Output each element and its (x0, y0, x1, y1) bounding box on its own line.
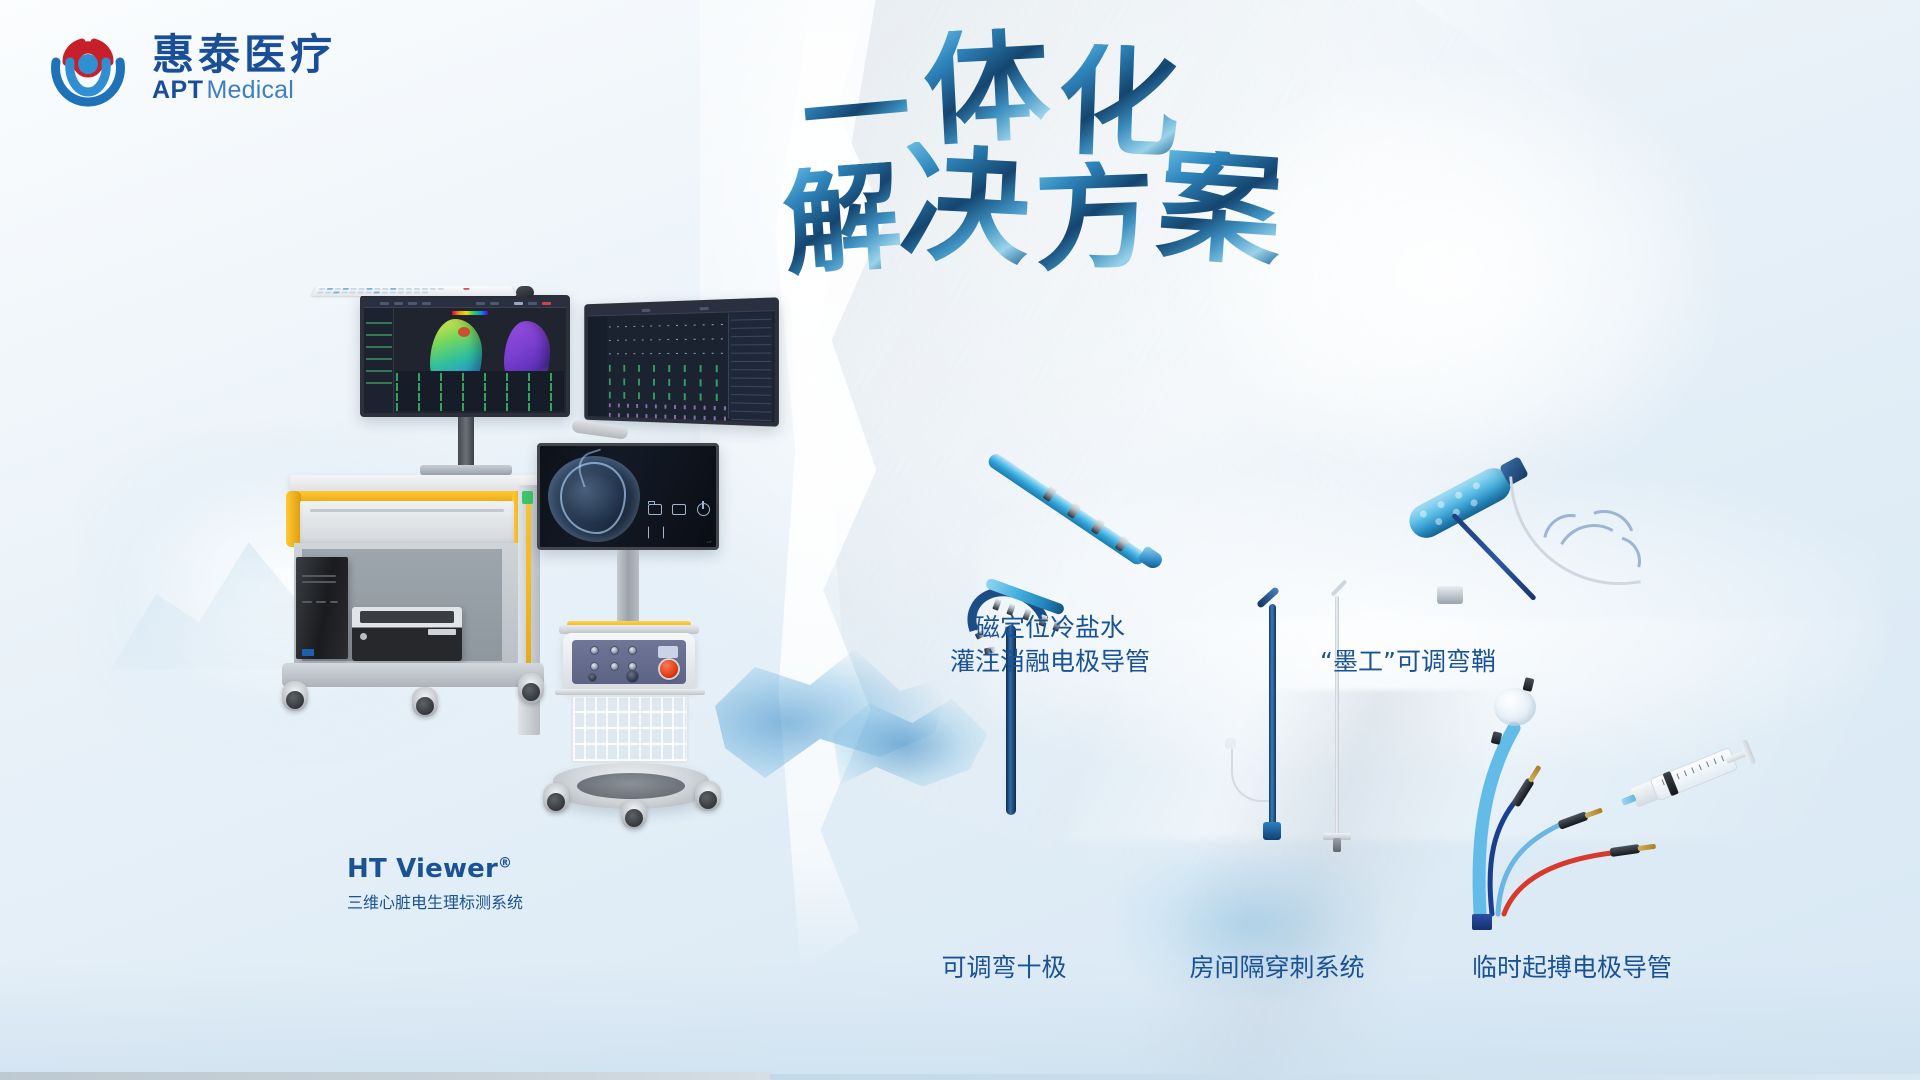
printer-output-slot (360, 611, 454, 623)
headline-calligraphy: 一 体 化 解 决 方 案 (800, 38, 1340, 338)
ablation-catheter-shaft (986, 451, 1148, 567)
generator-port-3[interactable] (610, 646, 619, 655)
mapping-color-scale (452, 311, 488, 315)
transseptal-needle-shaft (1269, 604, 1276, 832)
cart-base (282, 663, 544, 687)
workstation-pc-tower (296, 557, 348, 659)
label-steerable-sheath-line1: “墨工”可调弯鞘 (1320, 645, 1496, 679)
workstation-trademark: ® (498, 855, 512, 871)
sheath-hemostasis-valve (1437, 586, 1463, 604)
mapping-sidebar (364, 308, 394, 413)
power-icon[interactable] (697, 503, 710, 516)
generator-port-2[interactable] (590, 662, 599, 671)
mapping-icon[interactable] (648, 526, 662, 537)
label-steerable-sheath: “墨工”可调弯鞘 (1320, 645, 1496, 679)
brand-name-cn: 惠泰医疗 (152, 34, 336, 76)
cardiac-display-screen: HT (537, 443, 719, 550)
product-transseptal-puncture-system (1225, 580, 1385, 840)
apt-medical-heart-logo-icon (42, 22, 134, 114)
transseptal-needle-hub (1263, 822, 1281, 840)
pacing-balloon (1494, 688, 1536, 726)
headline-char-jue: 决 (897, 141, 1033, 267)
workstation-name-cn: 三维心脏电生理标测系统 (347, 892, 523, 913)
bottom-edge-strip-right (770, 1074, 1920, 1080)
recording-monitor (584, 297, 779, 426)
mapping-monitor (360, 295, 570, 417)
transseptal-dilator-tip (1331, 579, 1348, 596)
workstation-keyboard[interactable] (311, 286, 516, 296)
cart-drawer[interactable] (300, 501, 514, 545)
transseptal-dilator (1335, 596, 1339, 834)
open-case-folder-icon[interactable] (672, 504, 686, 515)
workstation-mouse[interactable] (516, 286, 534, 298)
monitor-swing-arm (571, 419, 628, 440)
cart-power-led (522, 491, 533, 504)
transseptal-side-cap (1225, 738, 1236, 749)
emergency-stop-button[interactable] (660, 660, 678, 678)
generator-irrigation-port[interactable] (626, 670, 639, 683)
pacing-catheter-hub (1472, 914, 1492, 930)
storage-basket (571, 695, 689, 763)
heart-anatomy-illustration (548, 456, 640, 542)
headline-char-an: 案 (1154, 147, 1286, 269)
workstation-name-en: HT Viewer (347, 854, 498, 884)
poster-canvas: 惠泰医疗 APT Medical 一 体 化 解 决 方 案 (0, 0, 1920, 1080)
brand-name-en-light: Medical (207, 78, 295, 103)
display-cart-column (617, 550, 639, 628)
label-ablation-catheter: 磁定位冷盐水 灌注消融电极导管 (950, 611, 1150, 678)
brand-logo: 惠泰医疗 APT Medical (42, 22, 336, 114)
screen-watermark: HT (707, 540, 712, 544)
transseptal-dilator-stem (1333, 838, 1341, 852)
new-case-folder-icon[interactable] (648, 504, 662, 515)
product-steerable-sheath (1395, 440, 1715, 630)
cart-caster-front-right (412, 687, 438, 717)
printer-brand-label (428, 629, 456, 635)
generator-display-readout (658, 646, 678, 658)
display-cart-caster-left (543, 783, 569, 813)
display-generator-cart: HT (537, 443, 737, 863)
label-pacing-catheter: 临时起搏电极导管 (1472, 951, 1672, 985)
label-ablation-catheter-line2: 灌注消融电极导管 (950, 645, 1150, 679)
recording-sidebar (588, 316, 607, 417)
sheath-handle (1403, 462, 1516, 544)
monitor-base (420, 465, 512, 475)
generator-port-5[interactable] (628, 646, 637, 655)
transseptal-side-arm (1231, 744, 1269, 802)
brand-name-en: APT Medical (152, 78, 336, 103)
headline-line-1: 一 体 化 (800, 38, 1340, 154)
printer-power-button[interactable] (360, 633, 367, 640)
bottom-edge-strip-left (0, 1072, 770, 1080)
brand-logo-text: 惠泰医疗 APT Medical (152, 34, 336, 103)
label-transseptal-system-line1: 房间隔穿刺系统 (1189, 951, 1364, 985)
label-pacing-catheter-line1: 临时起搏电极导管 (1472, 951, 1672, 985)
display-cart-caster-front (621, 799, 647, 829)
brand-name-en-bold: APT (152, 78, 204, 103)
generator-front-panel (572, 640, 686, 684)
display-cart-base-ring (577, 773, 685, 799)
pc-brand-badge (302, 649, 314, 656)
product-ablation-catheter (990, 450, 1180, 570)
monitor-stand-neck (458, 417, 474, 469)
mapping-monitor-screen (364, 299, 566, 413)
generator-port-1[interactable] (590, 646, 599, 655)
headline-line-2: 解 决 方 案 (772, 148, 1340, 268)
ablation-catheter-tip (1137, 545, 1165, 571)
recording-measurements-table (728, 312, 772, 420)
headline-char-fang: 方 (1033, 159, 1157, 274)
label-ablation-catheter-line1: 磁定位冷盐水 (950, 611, 1150, 645)
generator-port-4[interactable] (610, 662, 619, 671)
recording-monitor-screen (588, 302, 775, 423)
label-decapolar-catheter-line1: 可调弯十极 (941, 951, 1066, 985)
generator-ground-port[interactable] (588, 673, 597, 682)
mapping-ecg-strip (396, 371, 564, 411)
headline-char-jie: 解 (780, 161, 905, 278)
rf-ablation-generator (563, 633, 695, 691)
label-decapolar-catheter: 可调弯十极 (941, 951, 1066, 985)
laser-printer (352, 607, 462, 661)
cart-caster-front-left (282, 681, 308, 711)
mapping-toolbar (364, 299, 566, 308)
workstation-label-en: HT Viewer® (347, 852, 523, 887)
display-cart-caster-right (695, 781, 721, 811)
cart-yellow-post-left (286, 491, 301, 547)
label-transseptal-system: 房间隔穿刺系统 (1189, 951, 1364, 985)
transseptal-needle-tip (1256, 586, 1280, 609)
product-temporary-pacing-catheter (1470, 670, 1800, 920)
workstation-label: HT Viewer® 三维心脏电生理标测系统 (347, 852, 523, 913)
